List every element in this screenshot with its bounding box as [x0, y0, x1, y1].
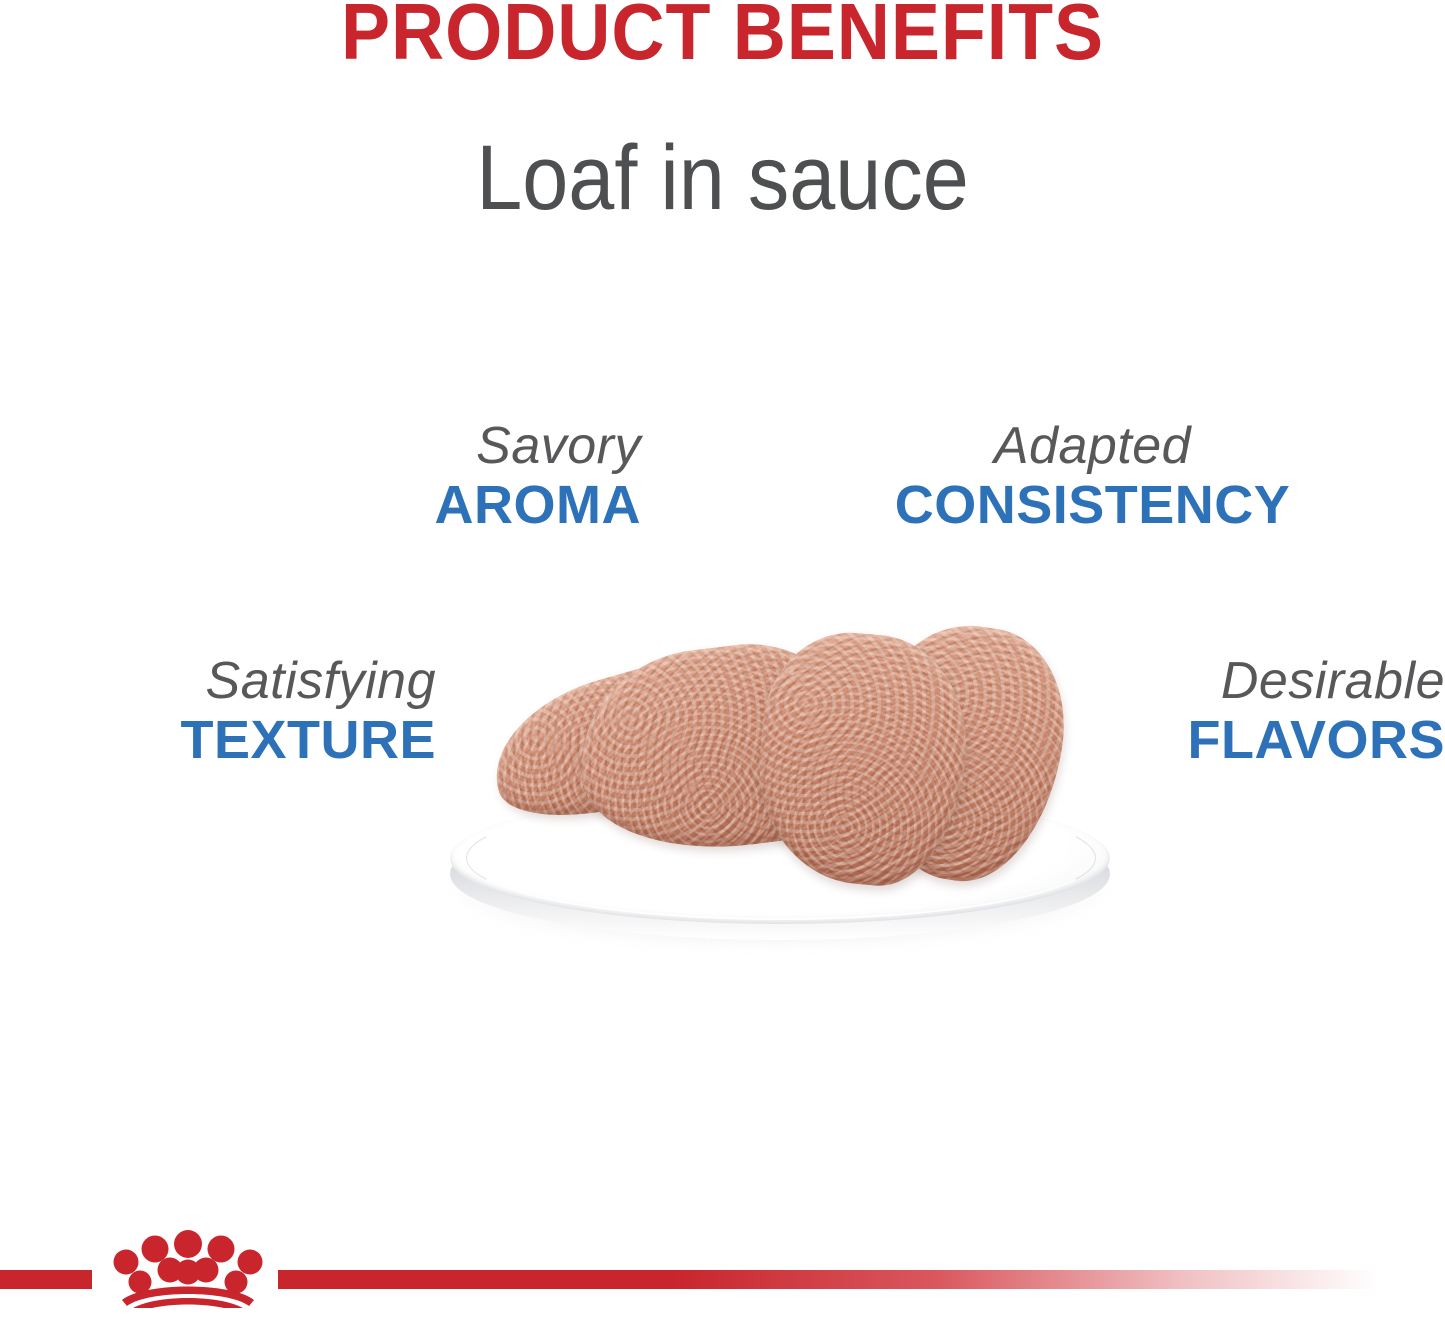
product-benefits-panel: PRODUCT BENEFITS Loaf in sauce Savory AR…	[0, 0, 1445, 1320]
footer	[0, 1200, 1445, 1320]
footer-rule-right	[278, 1270, 1378, 1289]
benefit-aroma: Savory AROMA	[181, 418, 641, 534]
benefit-consistency: Adapted CONSISTENCY	[860, 418, 1325, 534]
benefit-consistency-noun: CONSISTENCY	[860, 476, 1325, 534]
benefit-aroma-noun: AROMA	[181, 476, 641, 534]
benefit-consistency-adjective: Adapted	[860, 418, 1325, 474]
page-title: PRODUCT BENEFITS	[58, 0, 1387, 72]
benefit-texture-adjective: Satisfying	[0, 653, 436, 709]
product-photo	[430, 600, 1130, 980]
royal-canin-crown-icon	[108, 1224, 268, 1308]
benefit-aroma-adjective: Savory	[181, 418, 641, 474]
benefit-texture-noun: TEXTURE	[0, 711, 436, 769]
footer-rule-left	[0, 1270, 92, 1289]
page-subtitle: Loaf in sauce	[72, 132, 1373, 224]
benefit-texture: Satisfying TEXTURE	[0, 653, 436, 769]
